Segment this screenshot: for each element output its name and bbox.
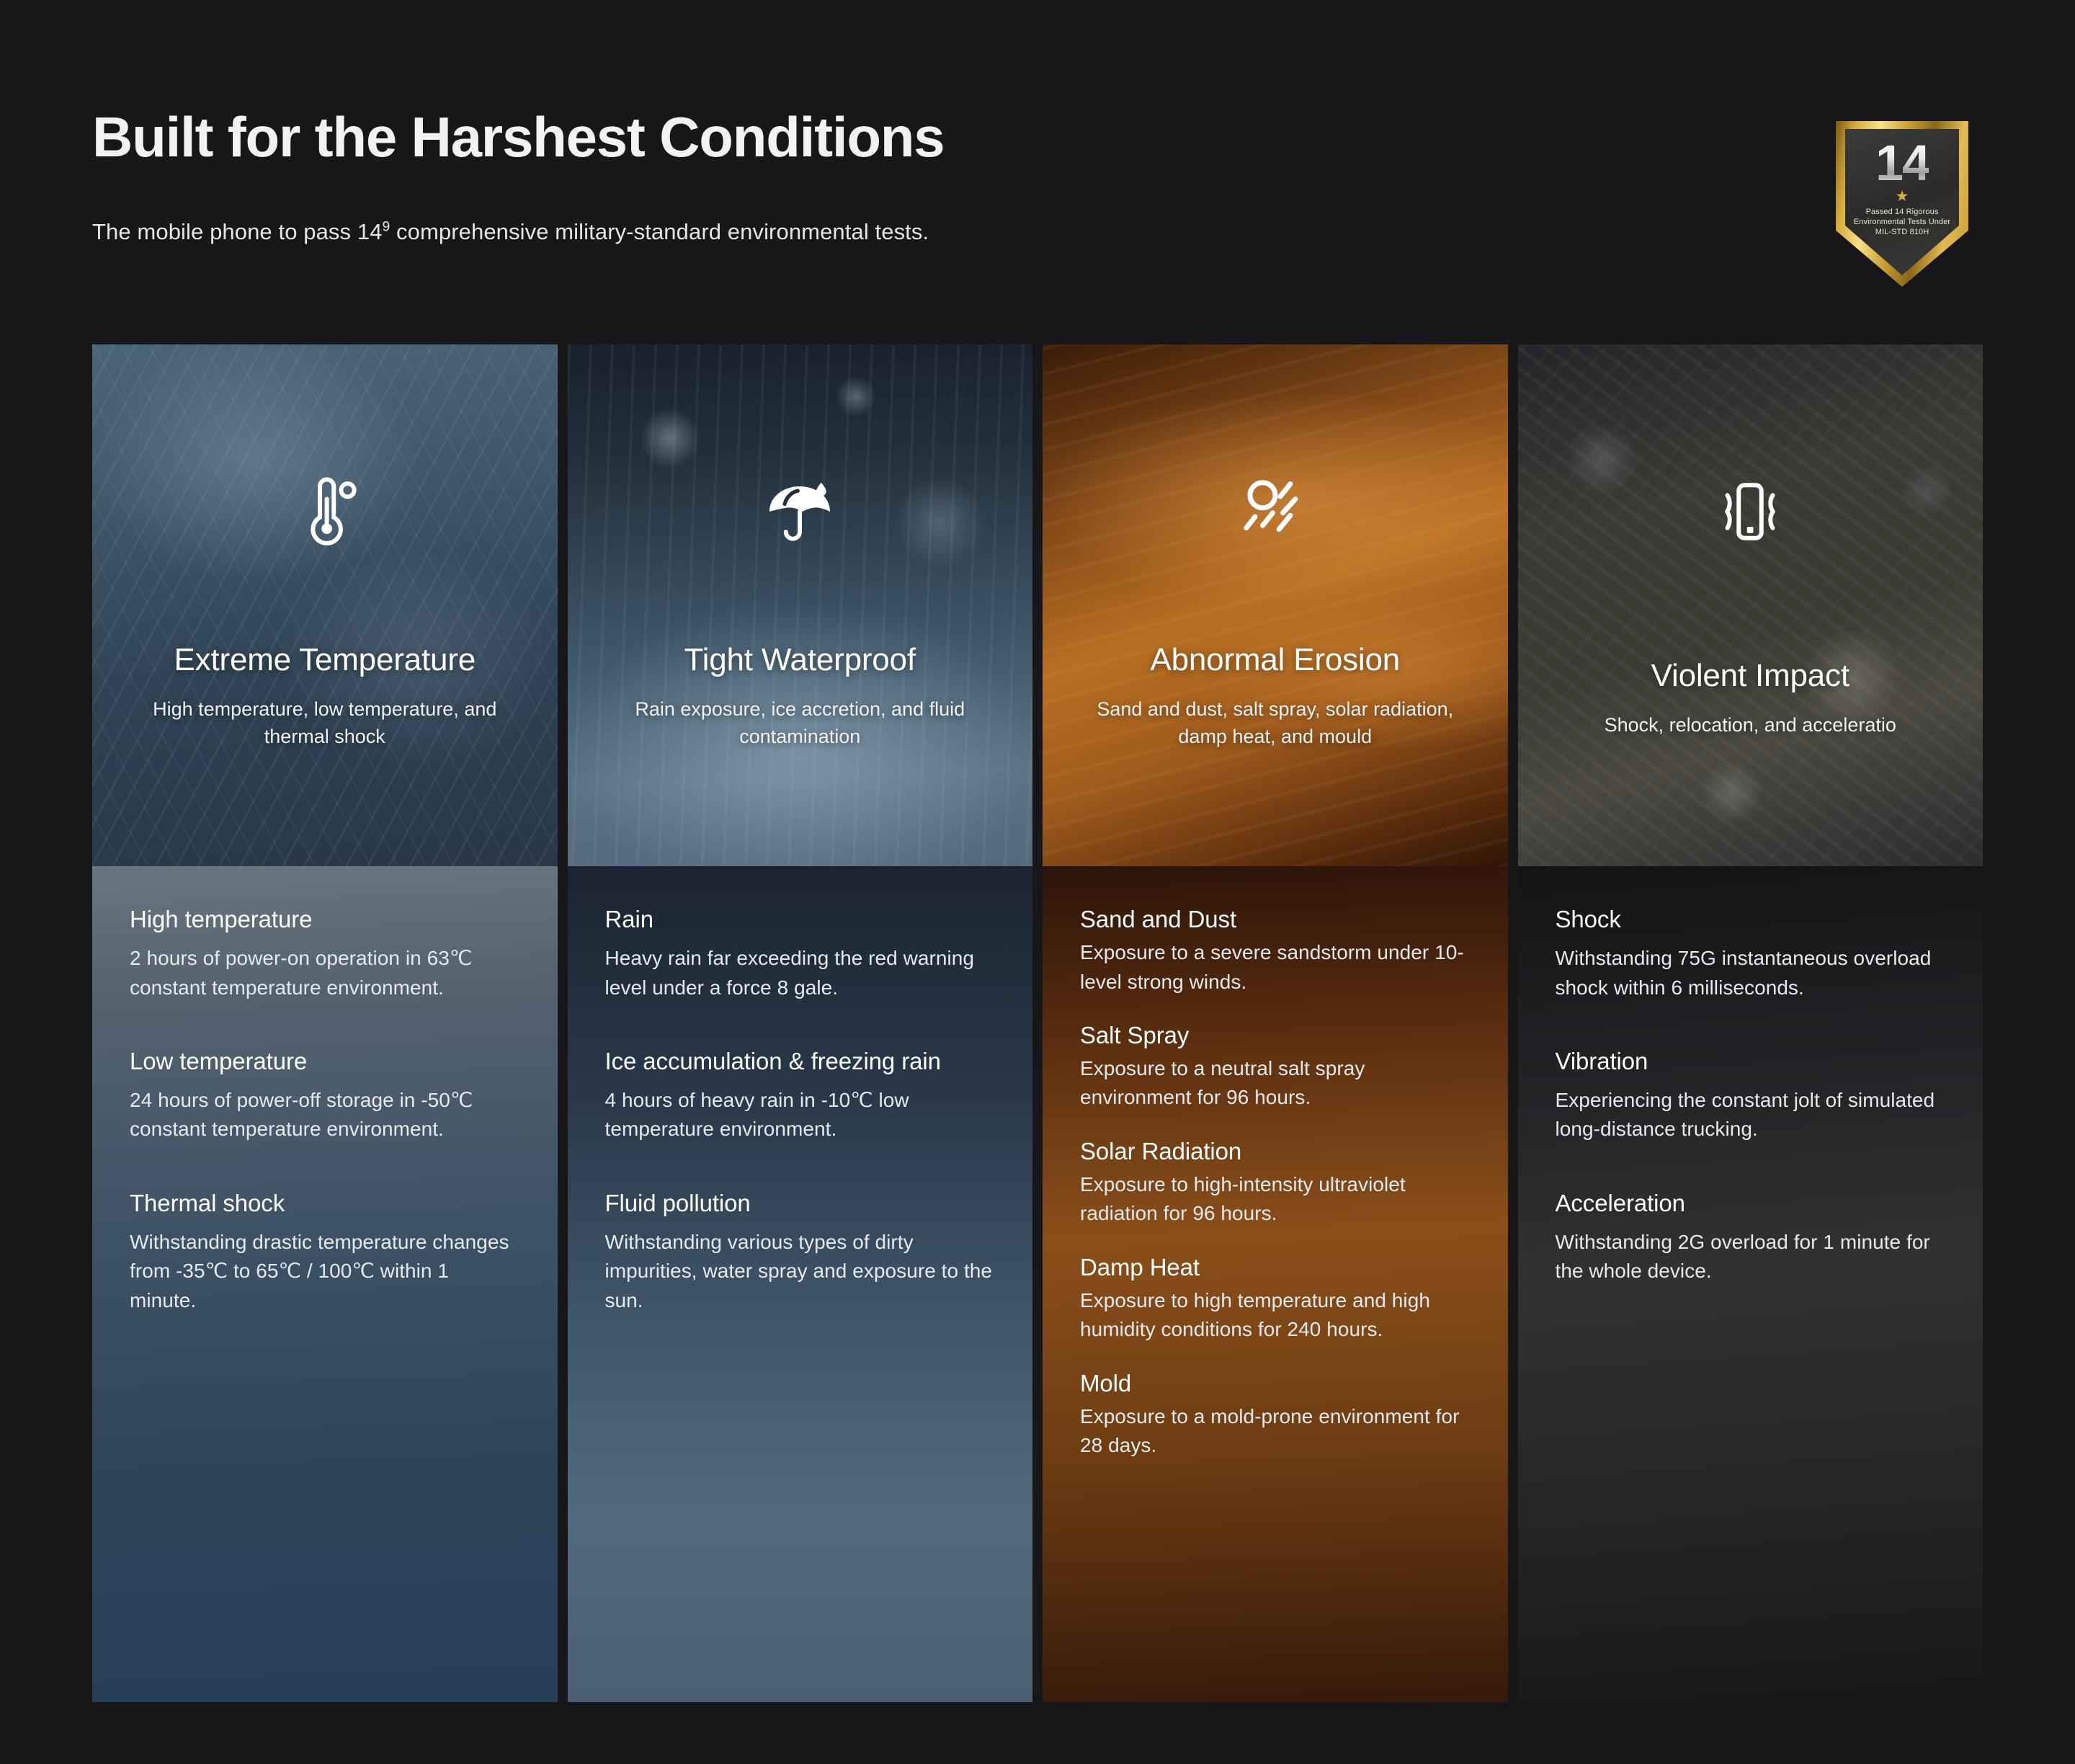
card-tight-waterproof[interactable]: Tight Waterproof Rain exposure, ice accr…	[568, 344, 1033, 1702]
section-sand-and-dust: Sand and Dust Exposure to a severe sands…	[1080, 905, 1471, 997]
section-damp-heat: Damp Heat Exposure to high temperature a…	[1080, 1253, 1471, 1345]
section-title: Low temperature	[130, 1047, 520, 1076]
section-title: Fluid pollution	[605, 1189, 996, 1218]
card-subtitle-violent-impact: Shock, relocation, and acceleratio	[1605, 712, 1896, 739]
section-title: Damp Heat	[1080, 1253, 1471, 1282]
section-text: 4 hours of heavy rain in -10℃ low temper…	[605, 1086, 996, 1144]
section-text: Exposure to a neutral salt spray environ…	[1080, 1054, 1471, 1113]
section-title: Mold	[1080, 1369, 1471, 1398]
section-title: Sand and Dust	[1080, 905, 1471, 934]
mil-std-badge: 14 ★ Passed 14 Rigorous Environmental Te…	[1836, 121, 1968, 287]
card-subtitle-extreme-temperature: High temperature, low temperature, and t…	[130, 696, 519, 750]
card-body-tight-waterproof: Rain Heavy rain far exceeding the red wa…	[568, 866, 1033, 1702]
section-title: Shock	[1556, 905, 1946, 934]
section-text: Exposure to a mold-prone environment for…	[1080, 1402, 1471, 1461]
page-title: Built for the Harshest Conditions	[92, 108, 1749, 167]
section-title: Vibration	[1556, 1047, 1946, 1076]
section-title: Rain	[605, 905, 996, 934]
section-text: Exposure to high temperature and high hu…	[1080, 1286, 1471, 1345]
card-media-tight-waterproof: Tight Waterproof Rain exposure, ice accr…	[568, 344, 1033, 866]
section-title: Acceleration	[1556, 1189, 1946, 1218]
section-mold: Mold Exposure to a mold-prone environmen…	[1080, 1369, 1471, 1461]
section-low-temperature: Low temperature 24 hours of power-off st…	[130, 1047, 520, 1144]
card-media-violent-impact: Violent Impact Shock, relocation, and ac…	[1518, 344, 1983, 866]
section-text: Heavy rain far exceeding the red warning…	[605, 944, 996, 1002]
card-title-abnormal-erosion: Abnormal Erosion	[1150, 643, 1400, 677]
section-title: Ice accumulation & freezing rain	[605, 1047, 996, 1076]
condition-cards-grid: Extreme Temperature High temperature, lo…	[92, 344, 1983, 1702]
section-salt-spray: Salt Spray Exposure to a neutral salt sp…	[1080, 1021, 1471, 1113]
card-extreme-temperature[interactable]: Extreme Temperature High temperature, lo…	[92, 344, 558, 1702]
card-subtitle-tight-waterproof: Rain exposure, ice accretion, and fluid …	[605, 696, 994, 750]
harsh-conditions-page: Built for the Harshest Conditions The mo…	[0, 0, 2075, 1764]
section-text: Exposure to high-intensity ultraviolet r…	[1080, 1170, 1471, 1229]
card-body-extreme-temperature: High temperature 2 hours of power-on ope…	[92, 866, 558, 1702]
section-text: Withstanding various types of dirty impu…	[605, 1228, 996, 1315]
card-subtitle-abnormal-erosion: Sand and dust, salt spray, solar radiati…	[1081, 696, 1470, 750]
section-vibration: Vibration Experiencing the constant jolt…	[1556, 1047, 1946, 1144]
section-fluid-pollution: Fluid pollution Withstanding various typ…	[605, 1189, 996, 1315]
section-solar-radiation: Solar Radiation Exposure to high-intensi…	[1080, 1137, 1471, 1229]
section-title: Thermal shock	[130, 1189, 520, 1218]
section-title: Solar Radiation	[1080, 1137, 1471, 1166]
section-rain: Rain Heavy rain far exceeding the red wa…	[605, 905, 996, 1002]
section-text: Withstanding 2G overload for 1 minute fo…	[1556, 1228, 1946, 1286]
badge-number: 14	[1875, 138, 1929, 188]
section-text: Withstanding drastic temperature changes…	[130, 1228, 520, 1315]
card-violent-impact[interactable]: Violent Impact Shock, relocation, and ac…	[1518, 344, 1983, 1702]
section-ice-accumulation: Ice accumulation & freezing rain 4 hours…	[605, 1047, 996, 1144]
card-media-extreme-temperature: Extreme Temperature High temperature, lo…	[92, 344, 558, 866]
section-text: Experiencing the constant jolt of simula…	[1556, 1086, 1946, 1144]
card-title-extreme-temperature: Extreme Temperature	[174, 643, 476, 677]
sun-sand-rays-icon	[1235, 471, 1316, 552]
card-media-abnormal-erosion: Abnormal Erosion Sand and dust, salt spr…	[1043, 344, 1508, 866]
phone-vibration-icon	[1710, 471, 1790, 552]
section-high-temperature: High temperature 2 hours of power-on ope…	[130, 905, 520, 1002]
section-text: Withstanding 75G instantaneous overload …	[1556, 944, 1946, 1002]
section-text: 24 hours of power-off storage in -50℃ co…	[130, 1086, 520, 1144]
page-header: Built for the Harshest Conditions The mo…	[92, 108, 1749, 245]
section-title: High temperature	[130, 905, 520, 934]
umbrella-rain-icon	[759, 471, 840, 552]
section-title: Salt Spray	[1080, 1021, 1471, 1050]
page-subtitle-after: comprehensive military-standard environm…	[390, 219, 929, 244]
section-thermal-shock: Thermal shock Withstanding drastic tempe…	[130, 1189, 520, 1315]
page-subtitle-before: The mobile phone to pass 14	[92, 219, 383, 244]
card-body-violent-impact: Shock Withstanding 75G instantaneous ove…	[1518, 866, 1983, 1702]
star-icon: ★	[1896, 189, 1909, 204]
section-text: Exposure to a severe sandstorm under 10-…	[1080, 938, 1471, 997]
section-acceleration: Acceleration Withstanding 2G overload fo…	[1556, 1189, 1946, 1286]
card-title-violent-impact: Violent Impact	[1651, 659, 1849, 693]
section-text: 2 hours of power-on operation in 63℃ con…	[130, 944, 520, 1002]
card-body-abnormal-erosion: Sand and Dust Exposure to a severe sands…	[1043, 866, 1508, 1702]
thermometer-icon	[285, 471, 365, 552]
card-title-tight-waterproof: Tight Waterproof	[684, 643, 916, 677]
page-subtitle-superscript: 9	[383, 220, 391, 235]
section-shock: Shock Withstanding 75G instantaneous ove…	[1556, 905, 1946, 1002]
page-subtitle: The mobile phone to pass 149 comprehensi…	[92, 219, 1749, 245]
card-abnormal-erosion[interactable]: Abnormal Erosion Sand and dust, salt spr…	[1043, 344, 1508, 1702]
badge-caption: Passed 14 Rigorous Environmental Tests U…	[1845, 207, 1959, 237]
badge-inner-panel: 14 ★ Passed 14 Rigorous Environmental Te…	[1845, 129, 1959, 275]
